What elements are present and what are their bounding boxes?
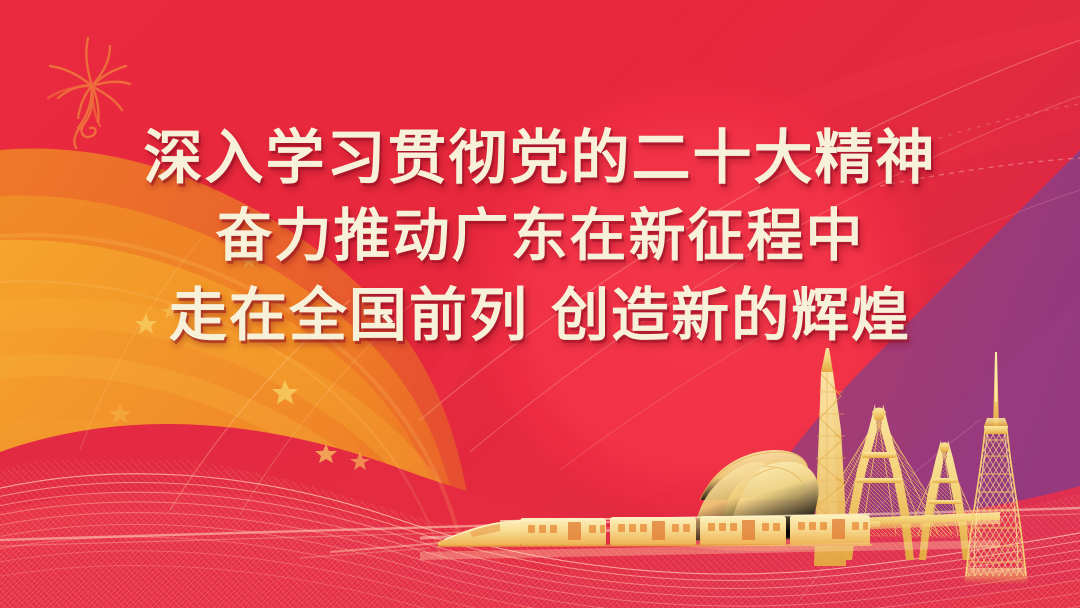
skyline-layer: [0, 0, 1080, 608]
canton-tower-icon: [964, 352, 1028, 584]
poster-canvas: 深入学习贯彻党的二十大精神 奋力推动广东在新征程中 走在全国前列 创造新的辉煌: [0, 0, 1080, 608]
